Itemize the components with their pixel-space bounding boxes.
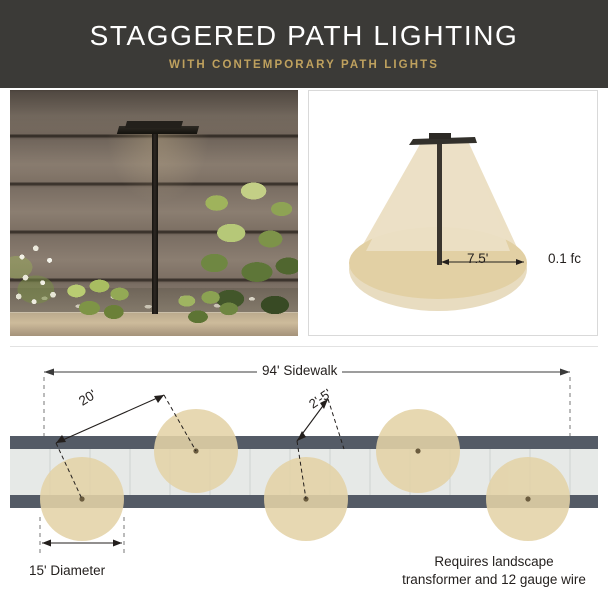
requirements-note-line2: transformer and 12 gauge wire <box>380 571 608 589</box>
beam-spread-label: 7.5' <box>467 251 488 266</box>
requirements-note: Requires landscape transformer and 12 ga… <box>380 553 608 589</box>
page-title: STAGGERED PATH LIGHTING <box>0 19 608 53</box>
sidewalk-edge-top <box>10 436 598 449</box>
diameter-label: 15' Diameter <box>29 563 105 578</box>
path-light-post <box>152 132 158 314</box>
product-photo <box>10 90 298 336</box>
fixture-cap <box>429 133 451 139</box>
site-plan-diagram: 94' Sidewalk 20' 2'-5' 15' Diameter Requ… <box>10 346 598 586</box>
path-light-cap <box>125 121 183 128</box>
beam-spread-diagram: 7.5' 0.1 fc <box>308 90 598 336</box>
infographic-page: STAGGERED PATH LIGHTING WITH CONTEMPORAR… <box>0 0 608 595</box>
fixture-post <box>437 143 442 265</box>
beam-spread-svg <box>309 91 597 335</box>
shrub-middle <box>62 276 134 326</box>
sidewalk-length-label: 94' Sidewalk <box>257 363 342 378</box>
shrub-right-low <box>170 286 240 330</box>
footcandle-label: 0.1 fc <box>548 251 581 266</box>
site-plan-svg <box>10 347 598 587</box>
header-banner: STAGGERED PATH LIGHTING WITH CONTEMPORAR… <box>0 0 608 88</box>
page-subtitle: WITH CONTEMPORARY PATH LIGHTS <box>0 58 608 72</box>
requirements-note-line1: Requires landscape <box>380 553 608 571</box>
